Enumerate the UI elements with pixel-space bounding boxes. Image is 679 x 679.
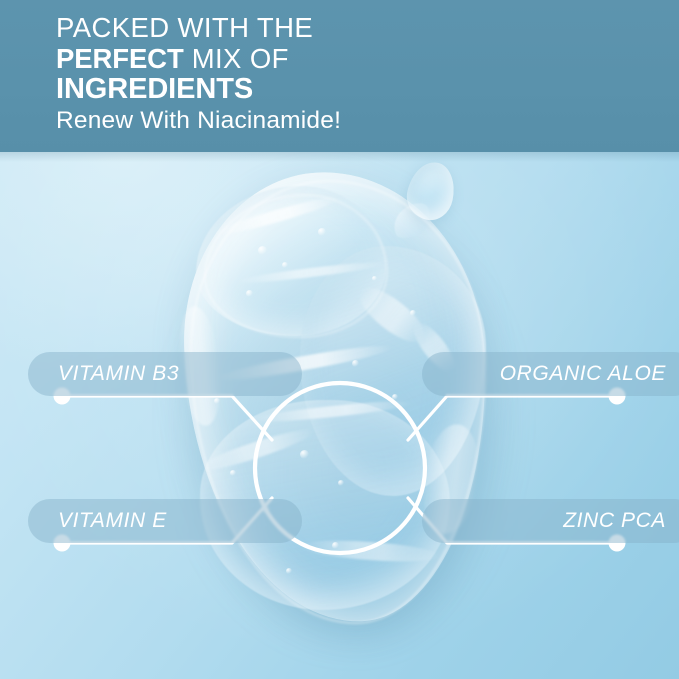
connector-line-vitamin-b3 [62, 396, 272, 440]
ingredient-label-text: ORGANIC ALOE [500, 362, 666, 386]
connector-line-organic-aloe [408, 396, 617, 440]
headline-line-2: PERFECT MIX OF [56, 45, 616, 74]
ingredient-label-vitamin-b3: VITAMIN B3 [28, 352, 302, 396]
ingredient-label-vitamin-e: VITAMIN E [28, 499, 302, 543]
headline-line-2-rest: MIX OF [184, 43, 289, 74]
header-text-block: PACKED WITH THE PERFECT MIX OF INGREDIEN… [56, 14, 616, 134]
header-banner: PACKED WITH THE PERFECT MIX OF INGREDIEN… [0, 0, 679, 152]
ingredient-label-organic-aloe: ORGANIC ALOE [422, 352, 679, 396]
ingredient-label-text: VITAMIN E [58, 509, 167, 533]
headline-emphasis-perfect: PERFECT [56, 43, 184, 74]
ingredient-label-text: VITAMIN B3 [58, 362, 179, 386]
ingredient-label-text: ZINC PCA [563, 509, 666, 533]
headline-line-1: PACKED WITH THE [56, 14, 616, 43]
ingredient-label-zinc-pca: ZINC PCA [422, 499, 679, 543]
header-drop-shadow [0, 152, 679, 162]
headline-line-3: INGREDIENTS [56, 74, 616, 104]
ingredient-infographic: PACKED WITH THE PERFECT MIX OF INGREDIEN… [0, 0, 679, 679]
headline-subtitle: Renew With Niacinamide! [56, 108, 616, 133]
